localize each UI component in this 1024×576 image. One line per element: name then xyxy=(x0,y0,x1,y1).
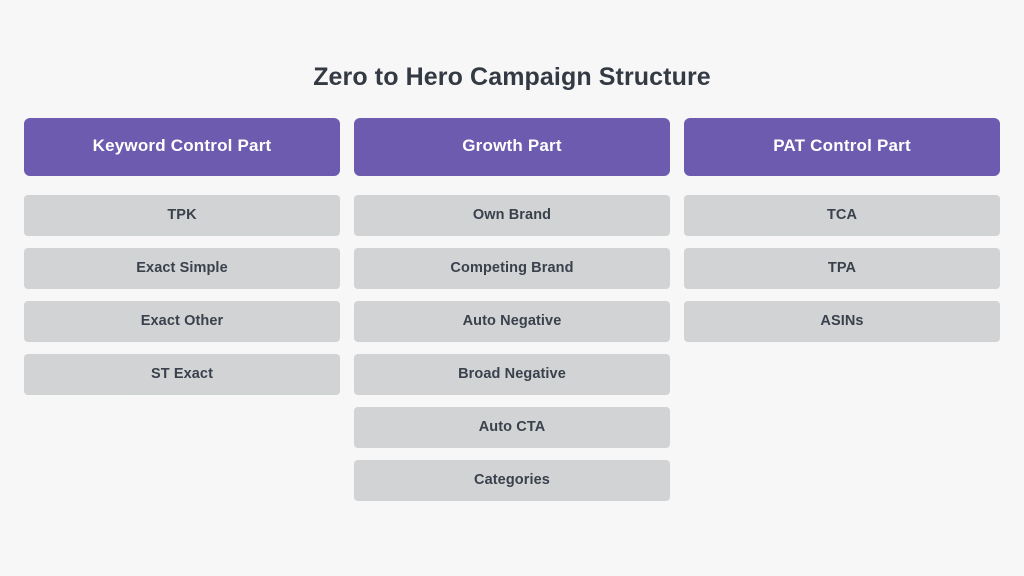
list-item[interactable]: Categories xyxy=(354,460,670,501)
list-item[interactable]: TCA xyxy=(684,195,1000,236)
column-keyword-control-part: Keyword Control Part TPK Exact Simple Ex… xyxy=(24,118,340,395)
column-growth-part: Growth Part Own Brand Competing Brand Au… xyxy=(354,118,670,501)
list-item[interactable]: Auto Negative xyxy=(354,301,670,342)
list-item[interactable]: Exact Other xyxy=(24,301,340,342)
list-item[interactable]: Broad Negative xyxy=(354,354,670,395)
list-item[interactable]: ST Exact xyxy=(24,354,340,395)
columns-container: Keyword Control Part TPK Exact Simple Ex… xyxy=(24,118,1000,501)
list-item[interactable]: TPA xyxy=(684,248,1000,289)
column-pat-control-part: PAT Control Part TCA TPA ASINs xyxy=(684,118,1000,342)
column-header-pat-control-part[interactable]: PAT Control Part xyxy=(684,118,1000,176)
list-item[interactable]: Auto CTA xyxy=(354,407,670,448)
list-item[interactable]: Competing Brand xyxy=(354,248,670,289)
list-item[interactable]: Own Brand xyxy=(354,195,670,236)
list-item[interactable]: TPK xyxy=(24,195,340,236)
page-title: Zero to Hero Campaign Structure xyxy=(0,60,1024,94)
campaign-structure-infographic: Zero to Hero Campaign Structure Keyword … xyxy=(0,0,1024,576)
list-item[interactable]: ASINs xyxy=(684,301,1000,342)
column-header-growth-part[interactable]: Growth Part xyxy=(354,118,670,176)
list-item[interactable]: Exact Simple xyxy=(24,248,340,289)
column-header-keyword-control-part[interactable]: Keyword Control Part xyxy=(24,118,340,176)
